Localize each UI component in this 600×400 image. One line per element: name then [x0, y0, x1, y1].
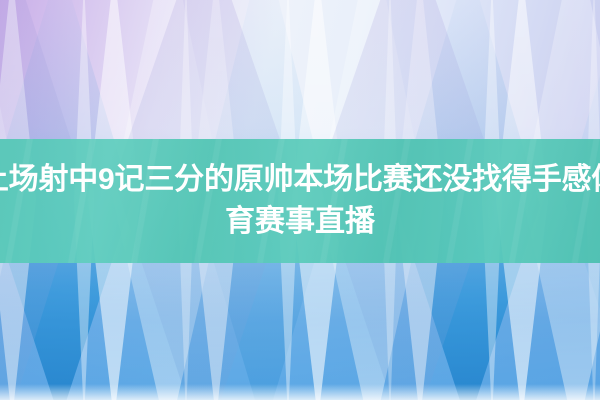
watermark-text: [0, 388, 600, 398]
headline-band: 上场射中9记三分的原帅本场比赛还没找得手感体 育赛事直播: [0, 139, 600, 263]
headline-line-2: 育赛事直播: [225, 201, 375, 243]
headline-line-1: 上场射中9记三分的原帅本场比赛还没找得手感体: [0, 159, 600, 201]
promo-banner: 上场射中9记三分的原帅本场比赛还没找得手感体 育赛事直播: [0, 0, 600, 400]
